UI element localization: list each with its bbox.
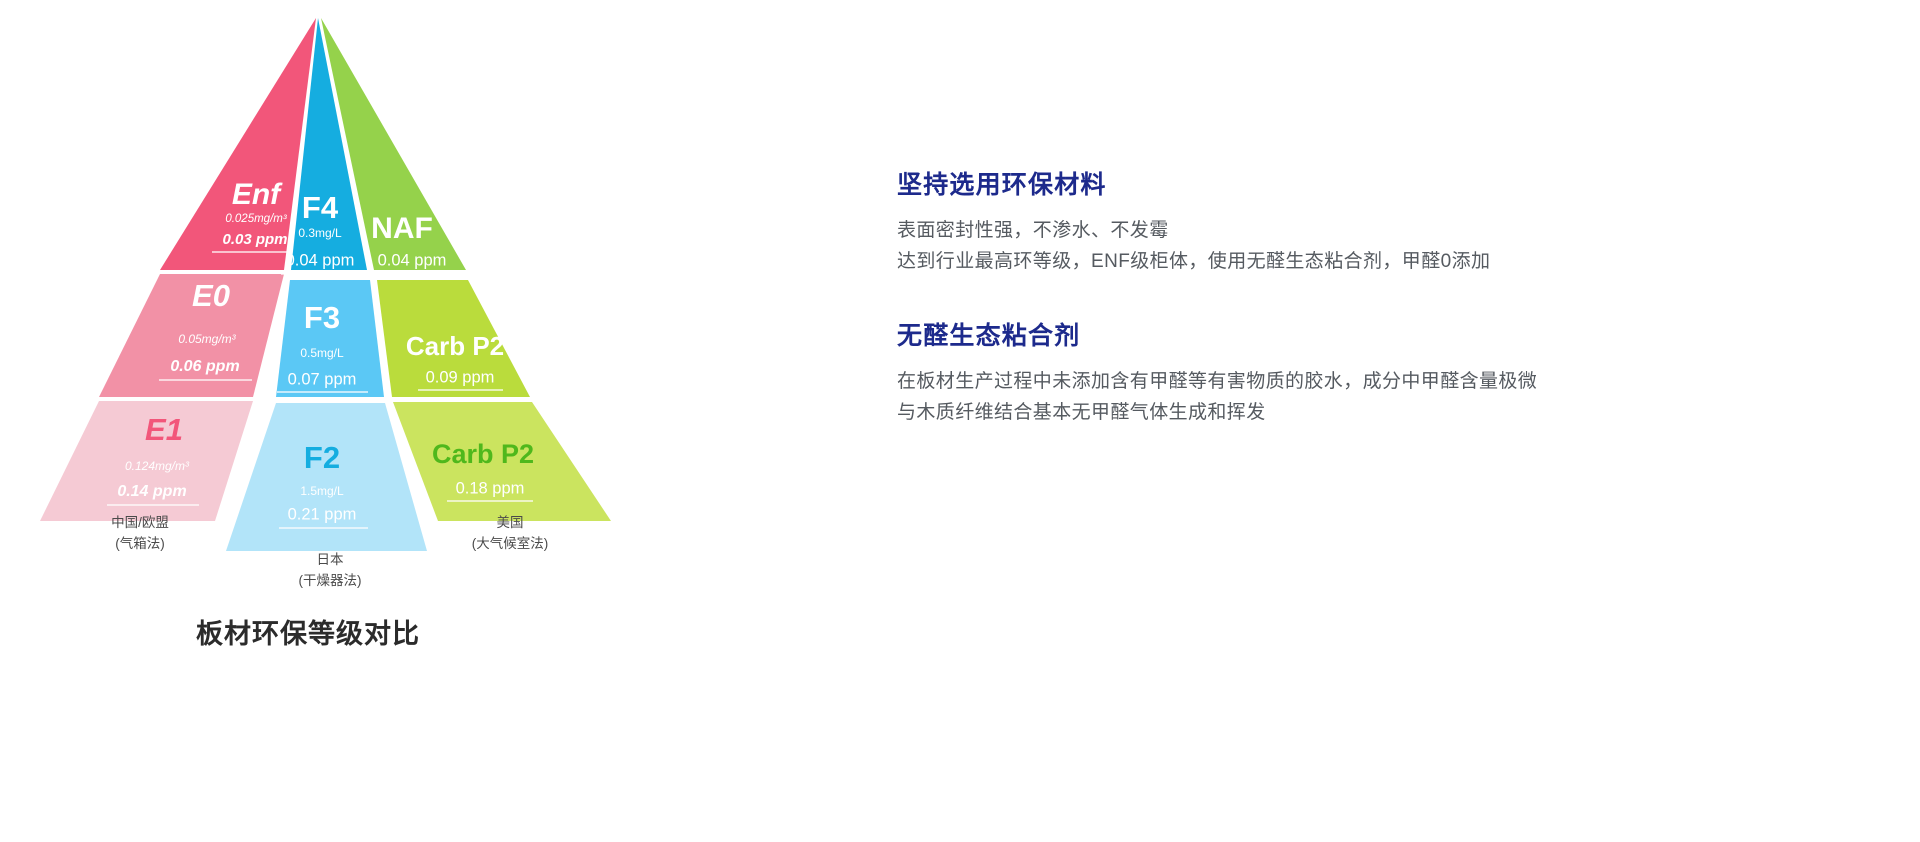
segment-f4-name: F4 — [302, 190, 339, 225]
segment-f2-unit: 1.5mg/L — [300, 484, 344, 498]
segment-enf-name: Enf — [232, 178, 283, 211]
segment-enf-ppm: 0.03 ppm — [222, 231, 287, 248]
caption-us: 美国 (大气候室法) — [420, 513, 600, 555]
copy-block-materials: 坚持选用环保材料 表面密封性强，不渗水、不发霉 达到行业最高环等级，ENF级柜体… — [897, 165, 1857, 278]
caption-cn-eu: 中国/欧盟 (气箱法) — [60, 513, 220, 555]
pyramid-chart: Enf 0.025mg/m³ 0.03 ppm E0 0.05mg/m³ 0.0… — [0, 0, 780, 842]
caption-us-region: 美国 — [420, 513, 600, 534]
segment-e1-unit: 0.124mg/m³ — [125, 459, 190, 473]
copy-block-materials-line-2: 达到行业最高环等级，ENF级柜体，使用无醛生态粘合剂，甲醛0添加 — [897, 246, 1857, 277]
copy-block-adhesive-line-2: 与木质纤维结合基本无甲醛气体生成和挥发 — [897, 397, 1857, 428]
copy-block-materials-heading: 坚持选用环保材料 — [897, 165, 1857, 201]
caption-jp: 日本 (干燥器法) — [250, 550, 410, 592]
caption-cn-eu-region: 中国/欧盟 — [60, 513, 220, 534]
segment-f2-ppm: 0.21 ppm — [288, 505, 357, 523]
segment-f4-ppm: 0.04 ppm — [286, 251, 355, 269]
pyramid-svg: Enf 0.025mg/m³ 0.03 ppm E0 0.05mg/m³ 0.0… — [0, 0, 780, 700]
segment-naf-ppm: 0.04 ppm — [378, 251, 447, 269]
copy-block-materials-line-1: 表面密封性强，不渗水、不发霉 — [897, 215, 1857, 246]
segment-enf-unit: 0.025mg/m³ — [225, 213, 288, 225]
segment-e1-name: E1 — [145, 412, 183, 447]
chart-title: 板材环保等级对比 — [196, 612, 420, 651]
segment-e1-ppm: 0.14 ppm — [117, 483, 186, 500]
segment-carbp2-mid-name: Carb P2 — [406, 331, 504, 361]
segment-e0-name: E0 — [192, 278, 230, 313]
segment-carbp2-mid-ppm: 0.09 ppm — [426, 368, 495, 386]
segment-e0-unit: 0.05mg/m³ — [178, 332, 236, 346]
segment-f3-name: F3 — [304, 300, 340, 335]
copy-block-adhesive: 无醛生态粘合剂 在板材生产过程中未添加含有甲醛等有害物质的胶水，成分中甲醛含量极… — [897, 316, 1857, 429]
copy-block-adhesive-line-1: 在板材生产过程中未添加含有甲醛等有害物质的胶水，成分中甲醛含量极微 — [897, 366, 1857, 397]
segment-f2-name: F2 — [304, 440, 340, 475]
segment-e0-ppm: 0.06 ppm — [170, 358, 239, 375]
caption-us-method: (大气候室法) — [420, 534, 600, 555]
segment-carbp2-bottom-ppm: 0.18 ppm — [456, 479, 525, 497]
segment-naf-name: NAF — [371, 212, 433, 245]
segment-f3-ppm: 0.07 ppm — [288, 370, 357, 388]
caption-jp-method: (干燥器法) — [250, 571, 410, 592]
segment-f3-unit: 0.5mg/L — [300, 346, 344, 360]
segment-f4-unit: 0.3mg/L — [298, 226, 342, 240]
copy-block-adhesive-heading: 无醛生态粘合剂 — [897, 316, 1857, 352]
caption-cn-eu-method: (气箱法) — [60, 534, 220, 555]
caption-jp-region: 日本 — [250, 550, 410, 571]
segment-carbp2-bottom-name: Carb P2 — [432, 439, 534, 469]
copy-panel: 坚持选用环保材料 表面密封性强，不渗水、不发霉 达到行业最高环等级，ENF级柜体… — [897, 165, 1857, 428]
